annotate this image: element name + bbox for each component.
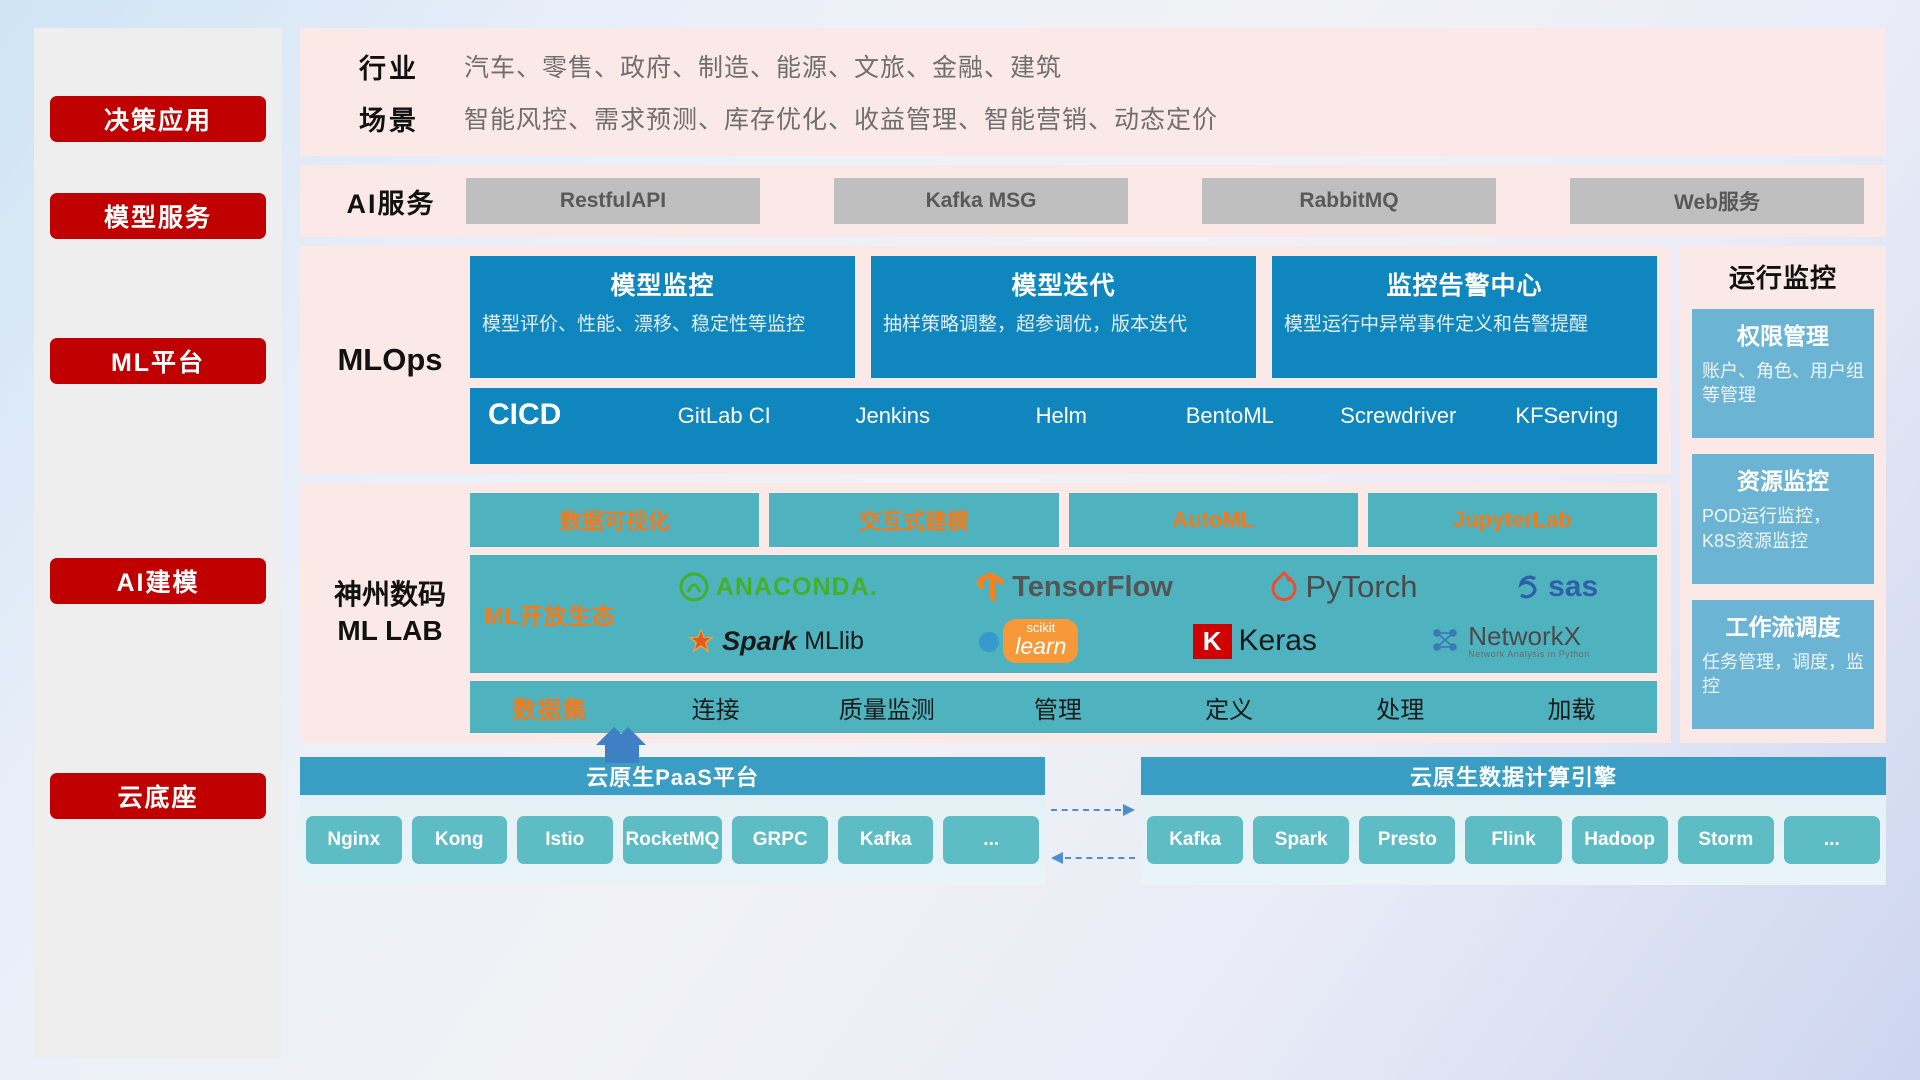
engine-chip-presto[interactable]: Presto xyxy=(1359,816,1455,864)
monitor-panel-title: 运行监控 xyxy=(1692,258,1874,295)
ml-ecosystem-label: ML开放生态 xyxy=(470,597,630,631)
paas-chip-kong[interactable]: Kong xyxy=(412,816,508,864)
card-desc: 任务管理，调度，监控 xyxy=(1702,650,1864,699)
data-engine-chips: Kafka Spark Presto Flink Hadoop Storm ..… xyxy=(1141,795,1886,885)
spark-star-icon xyxy=(687,627,715,655)
card-title: 模型监控 xyxy=(482,266,843,302)
mllib-label: MLlib xyxy=(804,627,864,656)
service-chip-restfulapi[interactable]: RestfulAPI xyxy=(466,178,760,224)
pytorch-label: PyTorch xyxy=(1305,569,1417,605)
rail-tag-label: ML平台 xyxy=(111,343,205,379)
dataset-label: 数据集 xyxy=(470,690,630,725)
networkx-icon xyxy=(1431,627,1461,655)
cicd-item-bentoml[interactable]: BentoML xyxy=(1146,398,1315,430)
mlops-band: MLOps 模型监控 模型评价、性能、漂移、稳定性等监控 模型迭代 抽样策略调整… xyxy=(300,246,1671,474)
industry-label: 行业 xyxy=(314,47,464,86)
paas-chip-nginx[interactable]: Nginx xyxy=(306,816,402,864)
scenario-label: 场景 xyxy=(314,99,464,138)
ai-service-label: AI服务 xyxy=(316,182,466,221)
cicd-items: GitLab CI Jenkins Helm BentoML Screwdriv… xyxy=(640,398,1651,430)
engine-chip-more[interactable]: ... xyxy=(1784,816,1880,864)
mlops-cards: 模型监控 模型评价、性能、漂移、稳定性等监控 模型迭代 抽样策略调整，超参调优，… xyxy=(470,256,1657,378)
monitor-card-resource[interactable]: 资源监控 POD运行监控，K8S资源监控 xyxy=(1692,454,1874,583)
dataset-item-manage[interactable]: 管理 xyxy=(972,690,1143,725)
networkx-sublabel: Network Analysis in Python xyxy=(1468,649,1590,659)
data-engine-title: 云原生数据计算引擎 xyxy=(1141,757,1886,795)
mlops-label: MLOps xyxy=(310,342,470,378)
rail-tag-cloud-base[interactable]: 云底座 xyxy=(50,773,266,819)
main-stack: 行业 汽车、零售、政府、制造、能源、文旅、金融、建筑 场景 智能风控、需求预测、… xyxy=(300,28,1886,1058)
service-chip-web[interactable]: Web服务 xyxy=(1570,178,1864,224)
engine-chip-spark[interactable]: Spark xyxy=(1253,816,1349,864)
rail-tag-ml-platform[interactable]: ML平台 xyxy=(50,338,266,384)
paas-platform-column: 云原生PaaS平台 Nginx Kong Istio RocketMQ GRPC… xyxy=(300,757,1045,885)
learn-label: learn xyxy=(1015,634,1066,658)
card-desc: 抽样策略调整，超参调优，版本迭代 xyxy=(883,312,1244,338)
paas-chip-rocketmq[interactable]: RocketMQ xyxy=(623,816,723,864)
card-title: 工作流调度 xyxy=(1702,608,1864,642)
rail-tag-decision[interactable]: 决策应用 xyxy=(50,96,266,142)
cicd-bar: CICD GitLab CI Jenkins Helm BentoML Scre… xyxy=(470,388,1657,464)
card-desc: POD运行监控，K8S资源监控 xyxy=(1702,504,1864,553)
keras-logo[interactable]: K Keras xyxy=(1193,624,1317,659)
cloud-foundation-row: 云原生PaaS平台 Nginx Kong Istio RocketMQ GRPC… xyxy=(300,757,1886,885)
service-chip-kafka-msg[interactable]: Kafka MSG xyxy=(834,178,1128,224)
dataset-bar: 数据集 连接 质量监测 管理 定义 处理 加载 xyxy=(470,681,1657,733)
anaconda-label: ANACONDA. xyxy=(716,573,878,602)
card-desc: 模型运行中异常事件定义和告警提醒 xyxy=(1284,312,1645,338)
anaconda-logo[interactable]: ANACONDA. xyxy=(679,572,878,602)
mlops-content: 模型监控 模型评价、性能、漂移、稳定性等监控 模型迭代 抽样策略调整，超参调优，… xyxy=(470,256,1657,464)
dashed-arrow-left xyxy=(1051,857,1135,859)
sas-label: sas xyxy=(1548,570,1598,604)
tab-automl[interactable]: AutoML xyxy=(1069,493,1358,547)
architecture-diagram: 决策应用 模型服务 ML平台 AI建模 云底座 行业 汽车、零售、政府、制造、能… xyxy=(0,0,1920,1080)
ml-ecosystem-block: ML开放生态 ANACONDA. xyxy=(470,555,1657,673)
engine-chip-flink[interactable]: Flink xyxy=(1465,816,1561,864)
keras-label: Keras xyxy=(1239,624,1317,658)
dashed-arrow-right xyxy=(1051,809,1135,811)
mlops-card-model-iteration[interactable]: 模型迭代 抽样策略调整，超参调优，版本迭代 xyxy=(871,256,1256,378)
ai-service-items: RestfulAPI Kafka MSG RabbitMQ Web服务 xyxy=(466,178,1870,224)
dataset-item-load[interactable]: 加载 xyxy=(1486,690,1657,725)
card-title: 权限管理 xyxy=(1702,317,1864,351)
cicd-item-kfserving[interactable]: KFServing xyxy=(1483,398,1652,430)
ml-lab-line2: ML LAB xyxy=(310,613,470,649)
modeling-content: 数据可视化 交互式建模 AutoML JupyterLab ML开放生态 xyxy=(470,493,1657,733)
cicd-title: CICD xyxy=(488,398,640,432)
scikit-learn-logo[interactable]: scikit learn xyxy=(978,619,1078,662)
scenario-text: 智能风控、需求预测、库存优化、收益管理、智能营销、动态定价 xyxy=(464,100,1218,136)
runtime-monitor-panel: 运行监控 权限管理 账户、角色、用户组等管理 资源监控 POD运行监控，K8S资… xyxy=(1680,246,1886,743)
card-title: 监控告警中心 xyxy=(1284,266,1645,302)
industry-text: 汽车、零售、政府、制造、能源、文旅、金融、建筑 xyxy=(464,48,1062,84)
cicd-item-jenkins[interactable]: Jenkins xyxy=(809,398,978,430)
platform-and-monitor: MLOps 模型监控 模型评价、性能、漂移、稳定性等监控 模型迭代 抽样策略调整… xyxy=(300,246,1886,743)
tensorflow-logo[interactable]: TensorFlow xyxy=(975,570,1173,604)
modeling-tabs: 数据可视化 交互式建模 AutoML JupyterLab xyxy=(470,493,1657,547)
engine-chip-kafka[interactable]: Kafka xyxy=(1147,816,1243,864)
rail-tag-label: 决策应用 xyxy=(104,101,212,137)
tensorflow-icon xyxy=(975,570,1005,604)
paas-platform-title: 云原生PaaS平台 xyxy=(300,757,1045,795)
ai-service-band: AI服务 RestfulAPI Kafka MSG RabbitMQ Web服务 xyxy=(300,165,1886,237)
tab-interactive-modeling[interactable]: 交互式建模 xyxy=(769,493,1058,547)
dataset-item-quality[interactable]: 质量监测 xyxy=(801,690,972,725)
mlops-card-model-monitoring[interactable]: 模型监控 模型评价、性能、漂移、稳定性等监控 xyxy=(470,256,855,378)
card-desc: 账户、角色、用户组等管理 xyxy=(1702,359,1864,408)
pytorch-logo[interactable]: PyTorch xyxy=(1270,569,1417,605)
dataset-item-process[interactable]: 处理 xyxy=(1315,690,1486,725)
tab-jupyterlab[interactable]: JupyterLab xyxy=(1368,493,1657,547)
spark-mllib-logo[interactable]: Spark MLlib xyxy=(687,626,864,657)
anaconda-icon xyxy=(679,572,709,602)
rail-tag-label: 模型服务 xyxy=(104,198,212,234)
paas-chip-istio[interactable]: Istio xyxy=(517,816,613,864)
networkx-logo[interactable]: NetworkX Network Analysis in Python xyxy=(1431,623,1590,659)
card-title: 模型迭代 xyxy=(883,266,1244,302)
cicd-item-screwdriver[interactable]: Screwdriver xyxy=(1314,398,1483,430)
sas-icon xyxy=(1515,573,1541,601)
tensorflow-label: TensorFlow xyxy=(1012,571,1173,604)
ecosystem-logos: ANACONDA. TensorFlow xyxy=(630,562,1647,666)
scenario-row: 场景 智能风控、需求预测、库存优化、收益管理、智能营销、动态定价 xyxy=(314,92,1872,144)
ecosystem-logo-row-2: Spark MLlib scikit xyxy=(630,616,1647,666)
data-engine-column: 云原生数据计算引擎 Kafka Spark Presto Flink Hadoo… xyxy=(1141,757,1886,885)
mlops-card-alert-center[interactable]: 监控告警中心 模型运行中异常事件定义和告警提醒 xyxy=(1272,256,1657,378)
paas-chip-kafka[interactable]: Kafka xyxy=(838,816,934,864)
dataset-items: 连接 质量监测 管理 定义 处理 加载 xyxy=(630,690,1657,725)
ml-lab-line1: 神州数码 xyxy=(310,577,470,613)
industry-row: 行业 汽车、零售、政府、制造、能源、文旅、金融、建筑 xyxy=(314,40,1872,92)
bidirectional-connector xyxy=(1045,757,1141,885)
monitor-card-permission[interactable]: 权限管理 账户、角色、用户组等管理 xyxy=(1692,309,1874,438)
spark-label: Spark xyxy=(722,626,797,657)
rail-tag-label: AI建模 xyxy=(116,563,199,599)
networkx-label: NetworkX xyxy=(1468,623,1590,649)
engine-chip-hadoop[interactable]: Hadoop xyxy=(1572,816,1668,864)
ml-lab-label: 神州数码 ML LAB xyxy=(310,577,470,649)
pytorch-icon xyxy=(1270,571,1298,603)
decision-rows: 行业 汽车、零售、政府、制造、能源、文旅、金融、建筑 场景 智能风控、需求预测、… xyxy=(314,40,1872,144)
service-chip-rabbitmq[interactable]: RabbitMQ xyxy=(1202,178,1496,224)
scikit-learn-badge: scikit learn xyxy=(1003,619,1078,662)
rail-tag-ai-modeling[interactable]: AI建模 xyxy=(50,558,266,604)
rail-tag-label: 云底座 xyxy=(117,778,198,814)
paas-chip-more[interactable]: ... xyxy=(943,816,1039,864)
tab-data-visualization[interactable]: 数据可视化 xyxy=(470,493,759,547)
keras-icon: K xyxy=(1193,624,1232,659)
networkx-text-group: NetworkX Network Analysis in Python xyxy=(1468,623,1590,659)
rail-tag-model-service[interactable]: 模型服务 xyxy=(50,193,266,239)
ecosystem-logo-row-1: ANACONDA. TensorFlow xyxy=(630,562,1647,612)
decision-application-band: 行业 汽车、零售、政府、制造、能源、文旅、金融、建筑 场景 智能风控、需求预测、… xyxy=(300,28,1886,156)
sas-logo[interactable]: sas xyxy=(1515,570,1598,604)
dataset-item-connect[interactable]: 连接 xyxy=(630,690,801,725)
paas-chip-grpc[interactable]: GRPC xyxy=(732,816,828,864)
layer-rail: 决策应用 模型服务 ML平台 AI建模 云底座 xyxy=(34,28,282,1058)
card-desc: 模型评价、性能、漂移、稳定性等监控 xyxy=(482,312,843,338)
engine-chip-storm[interactable]: Storm xyxy=(1678,816,1774,864)
paas-chips: Nginx Kong Istio RocketMQ GRPC Kafka ... xyxy=(300,795,1045,885)
cicd-item-helm[interactable]: Helm xyxy=(977,398,1146,430)
dataset-item-define[interactable]: 定义 xyxy=(1144,690,1315,725)
ai-modeling-band: 神州数码 ML LAB 数据可视化 交互式建模 AutoML JupyterLa… xyxy=(300,483,1671,743)
monitor-card-workflow[interactable]: 工作流调度 任务管理，调度，监控 xyxy=(1692,600,1874,729)
platform-column: MLOps 模型监控 模型评价、性能、漂移、稳定性等监控 模型迭代 抽样策略调整… xyxy=(300,246,1671,743)
cicd-item-gitlab-ci[interactable]: GitLab CI xyxy=(640,398,809,430)
card-title: 资源监控 xyxy=(1702,462,1864,496)
